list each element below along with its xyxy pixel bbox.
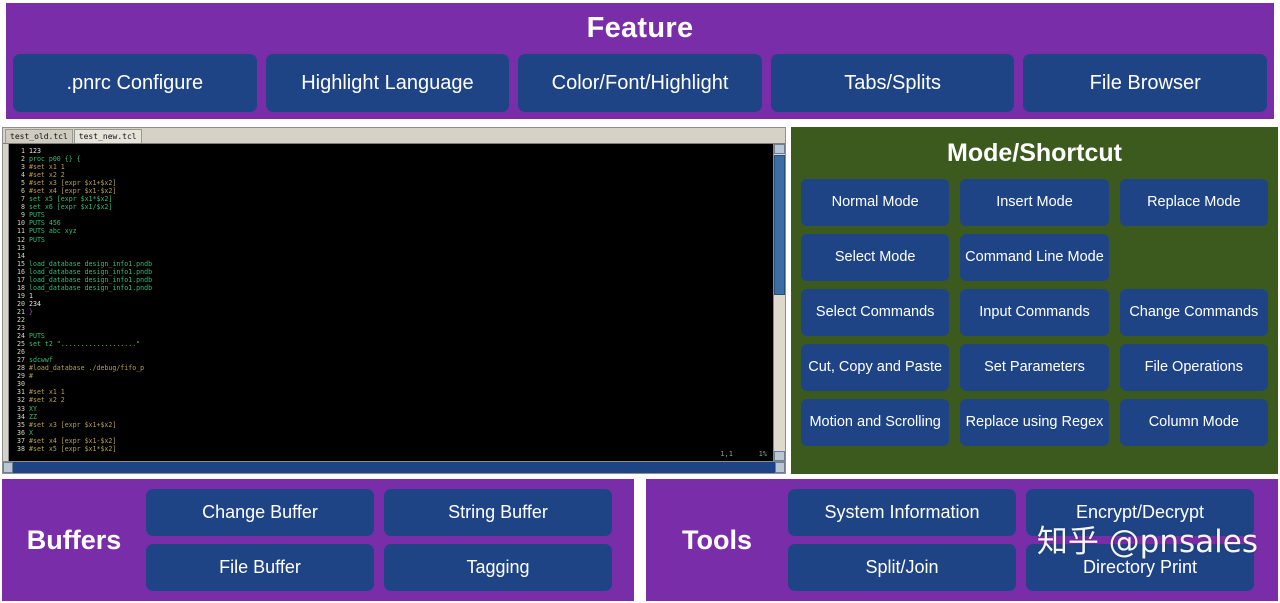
editor-code-line: 12PUTS: [9, 236, 773, 244]
editor-code-line: 9PUTS: [9, 211, 773, 219]
editor-code-line: 17load_database design_info1.pndb: [9, 276, 773, 284]
mode-button-select-mode[interactable]: Select Mode: [801, 234, 949, 281]
editor-line-number: 13: [9, 244, 25, 252]
editor-code-line: 15load_database design_info1.pndb: [9, 260, 773, 268]
editor-code-line: 13: [9, 244, 773, 252]
editor-code-line: 24PUTS: [9, 332, 773, 340]
editor-line-text: #set x4 [expr $x1-$x2]: [29, 437, 116, 445]
slide-canvas: Feature .pnrc Configure Highlight Langua…: [0, 0, 1280, 603]
mode-button-command-line-mode[interactable]: Command Line Mode: [960, 234, 1108, 281]
editor-line-text: 1: [29, 292, 33, 300]
editor-line-text: X: [29, 429, 33, 437]
editor-line-number: 5: [9, 179, 25, 187]
mode-button-file-operations[interactable]: File Operations: [1120, 344, 1268, 391]
editor-line-text: sdcwwf: [29, 356, 53, 364]
editor-code-line: 16load_database design_info1.pndb: [9, 268, 773, 276]
editor-line-number: 23: [9, 324, 25, 332]
editor-line-number: 33: [9, 405, 25, 413]
feature-section: Feature .pnrc Configure Highlight Langua…: [6, 3, 1274, 119]
editor-line-number: 9: [9, 211, 25, 219]
editor-line-number: 31: [9, 388, 25, 396]
mode-shortcut-grid: Normal ModeInsert ModeReplace ModeSelect…: [801, 179, 1268, 446]
editor-code-line: 7set x5 [expr $x1*$x2]: [9, 195, 773, 203]
feature-button-tabs-splits[interactable]: Tabs/Splits: [771, 54, 1015, 112]
editor-line-number: 30: [9, 380, 25, 388]
editor-line-number: 18: [9, 284, 25, 292]
editor-line-number: 26: [9, 348, 25, 356]
editor-code-line: 10PUTS 456: [9, 219, 773, 227]
editor-line-number: 28: [9, 364, 25, 372]
editor-line-text: #set x2 2: [29, 171, 65, 179]
editor-line-text: PUTS: [29, 211, 45, 219]
editor-code-line: 20234: [9, 300, 773, 308]
editor-line-text: #set x5 [expr $x1*$x2]: [29, 445, 116, 453]
editor-line-number: 16: [9, 268, 25, 276]
editor-line-text: #set x3 [expr $x1+$x2]: [29, 421, 116, 429]
editor-line-text: XY: [29, 405, 37, 413]
editor-code-line: 34ZZ: [9, 413, 773, 421]
editor-line-text: #: [29, 372, 33, 380]
feature-button-highlight-language[interactable]: Highlight Language: [266, 54, 510, 112]
editor-code-line: 5#set x3 [expr $x1+$x2]: [9, 179, 773, 187]
editor-line-text: PUTS: [29, 332, 45, 340]
editor-line-number: 22: [9, 316, 25, 324]
editor-line-text: load_database design_info1.pndb: [29, 284, 152, 292]
mode-grid-empty-cell: [1120, 234, 1268, 281]
editor-code-line: 29#: [9, 372, 773, 380]
editor-line-number: 2: [9, 155, 25, 163]
editor-line-text: 123: [29, 147, 41, 155]
editor-code-area[interactable]: 1,1 1% 11232proc p00 {} {3#set x1 14#set…: [9, 144, 773, 461]
editor-code-line: 32#set x2 2: [9, 396, 773, 404]
editor-code-line: 33XY: [9, 405, 773, 413]
editor-line-number: 37: [9, 437, 25, 445]
editor-line-number: 1: [9, 147, 25, 155]
editor-scroll-percent: 1%: [759, 450, 767, 458]
editor-code-line: 11PUTS abc xyz: [9, 227, 773, 235]
mode-button-set-parameters[interactable]: Set Parameters: [960, 344, 1108, 391]
editor-line-text: }: [29, 308, 33, 316]
editor-line-number: 21: [9, 308, 25, 316]
editor-line-number: 12: [9, 236, 25, 244]
editor-window: test_old.tcl test_new.tcl 1,1 1% 11232pr…: [2, 127, 786, 474]
editor-body: 1,1 1% 11232proc p00 {} {3#set x1 14#set…: [3, 143, 785, 461]
editor-line-number: 38: [9, 445, 25, 453]
editor-code-line: 6#set x4 [expr $x1-$x2]: [9, 187, 773, 195]
editor-line-number: 29: [9, 372, 25, 380]
mode-shortcut-title: Mode/Shortcut: [947, 138, 1122, 168]
editor-line-text: #set x3 [expr $x1+$x2]: [29, 179, 116, 187]
mode-button-replace-using-regex[interactable]: Replace using Regex: [960, 399, 1108, 446]
editor-line-number: 35: [9, 421, 25, 429]
editor-code-line: 191: [9, 292, 773, 300]
editor-code-line: 25set t2 "...................": [9, 340, 773, 348]
editor-line-number: 27: [9, 356, 25, 364]
editor-code-line: 22: [9, 316, 773, 324]
editor-line-number: 20: [9, 300, 25, 308]
editor-line-text: load_database design_info1.pndb: [29, 260, 152, 268]
editor-code-line: 36X: [9, 429, 773, 437]
editor-horizontal-scrollbar[interactable]: [3, 461, 785, 473]
editor-line-text: #set x2 2: [29, 396, 65, 404]
editor-line-number: 32: [9, 396, 25, 404]
mode-button-input-commands[interactable]: Input Commands: [960, 289, 1108, 336]
editor-code-line: 3#set x1 1: [9, 163, 773, 171]
editor-line-text: proc p00 {} {: [29, 155, 81, 163]
editor-code-line: 31#set x1 1: [9, 388, 773, 396]
editor-code-line: 1123: [9, 147, 773, 155]
tools-button-system-information[interactable]: System Information: [788, 489, 1016, 536]
editor-line-text: #set x1 1: [29, 388, 65, 396]
editor-line-text: #set x4 [expr $x1-$x2]: [29, 187, 116, 195]
editor-code-line: 26: [9, 348, 773, 356]
editor-line-number: 19: [9, 292, 25, 300]
editor-line-number: 11: [9, 227, 25, 235]
buffers-title: Buffers: [2, 525, 146, 556]
mode-button-insert-mode[interactable]: Insert Mode: [960, 179, 1108, 226]
mode-button-change-commands[interactable]: Change Commands: [1120, 289, 1268, 336]
editor-line-number: 7: [9, 195, 25, 203]
editor-line-text: #load_database ./debug/fifo_p: [29, 364, 144, 372]
buffers-section: Buffers Change Buffer String Buffer File…: [2, 479, 634, 601]
mode-shortcut-section: Mode/Shortcut Normal ModeInsert ModeRepl…: [791, 127, 1278, 474]
editor-line-text: set x6 [expr $x1/$x2]: [29, 203, 112, 211]
editor-code-line: 27sdcwwf: [9, 356, 773, 364]
scroll-up-arrow-icon[interactable]: [774, 144, 785, 154]
vertical-scroll-thumb[interactable]: [774, 155, 785, 295]
editor-line-number: 15: [9, 260, 25, 268]
vertical-scroll-track[interactable]: [774, 295, 785, 451]
editor-code-line: 8set x6 [expr $x1/$x2]: [9, 203, 773, 211]
buffers-button-file-buffer[interactable]: File Buffer: [146, 544, 374, 591]
feature-button-row: .pnrc Configure Highlight Language Color…: [13, 54, 1267, 112]
mode-button-replace-mode[interactable]: Replace Mode: [1120, 179, 1268, 226]
editor-line-number: 4: [9, 171, 25, 179]
editor-code-line: 30: [9, 380, 773, 388]
editor-line-text: 234: [29, 300, 41, 308]
buffers-button-change-buffer[interactable]: Change Buffer: [146, 489, 374, 536]
mode-button-motion-and-scrolling[interactable]: Motion and Scrolling: [801, 399, 949, 446]
buffers-grid: Change Buffer String Buffer File Buffer …: [146, 489, 634, 591]
editor-line-number: 14: [9, 252, 25, 260]
tools-button-split-join[interactable]: Split/Join: [788, 544, 1016, 591]
tools-title: Tools: [646, 525, 788, 556]
editor-code-line: 37#set x4 [expr $x1-$x2]: [9, 437, 773, 445]
editor-code-line: 23: [9, 324, 773, 332]
editor-code-line: 2proc p00 {} {: [9, 155, 773, 163]
editor-tab-test-old[interactable]: test_old.tcl: [5, 129, 73, 143]
editor-line-text: ZZ: [29, 413, 37, 421]
editor-line-number: 25: [9, 340, 25, 348]
editor-code-line: 35#set x3 [expr $x1+$x2]: [9, 421, 773, 429]
feature-button-pnrc-configure[interactable]: .pnrc Configure: [13, 54, 257, 112]
editor-line-number: 24: [9, 332, 25, 340]
feature-button-color-font-highlight[interactable]: Color/Font/Highlight: [518, 54, 762, 112]
editor-tab-test-new[interactable]: test_new.tcl: [74, 129, 142, 143]
scroll-left-arrow-icon[interactable]: [3, 462, 13, 473]
editor-line-text: #set x1 1: [29, 163, 65, 171]
editor-line-number: 6: [9, 187, 25, 195]
editor-line-number: 34: [9, 413, 25, 421]
editor-line-number: 8: [9, 203, 25, 211]
editor-line-number: 10: [9, 219, 25, 227]
editor-line-number: 17: [9, 276, 25, 284]
feature-title: Feature: [587, 11, 694, 45]
editor-line-text: PUTS abc xyz: [29, 227, 77, 235]
buffers-button-string-buffer[interactable]: String Buffer: [384, 489, 612, 536]
editor-cursor-position: 1,1: [720, 450, 733, 458]
editor-vertical-scrollbar[interactable]: [773, 144, 785, 461]
editor-tab-bar: test_old.tcl test_new.tcl: [3, 128, 785, 143]
editor-code-line: 18load_database design_info1.pndb: [9, 284, 773, 292]
mode-button-column-mode[interactable]: Column Mode: [1120, 399, 1268, 446]
horizontal-scroll-thumb[interactable]: [13, 462, 775, 473]
editor-code-line: 21}: [9, 308, 773, 316]
mode-button-cut-copy-and-paste[interactable]: Cut, Copy and Paste: [801, 344, 949, 391]
editor-line-text: load_database design_info1.pndb: [29, 276, 152, 284]
mode-button-select-commands[interactable]: Select Commands: [801, 289, 949, 336]
editor-line-text: PUTS 456: [29, 219, 61, 227]
editor-line-number: 36: [9, 429, 25, 437]
editor-code-line: 28#load_database ./debug/fifo_p: [9, 364, 773, 372]
editor-line-number: 3: [9, 163, 25, 171]
mode-button-normal-mode[interactable]: Normal Mode: [801, 179, 949, 226]
scroll-right-arrow-icon[interactable]: [775, 462, 785, 473]
editor-code-line: 14: [9, 252, 773, 260]
scroll-down-arrow-icon[interactable]: [774, 451, 785, 461]
editor-code-line: 38#set x5 [expr $x1*$x2]: [9, 445, 773, 453]
editor-line-text: PUTS: [29, 236, 45, 244]
buffers-button-tagging[interactable]: Tagging: [384, 544, 612, 591]
editor-line-text: load_database design_info1.pndb: [29, 268, 152, 276]
editor-line-text: set t2 "...................": [29, 340, 140, 348]
editor-code-line: 4#set x2 2: [9, 171, 773, 179]
editor-line-text: set x5 [expr $x1*$x2]: [29, 195, 112, 203]
feature-button-file-browser[interactable]: File Browser: [1023, 54, 1267, 112]
watermark-label: 知乎 @pnsales: [1037, 516, 1258, 561]
